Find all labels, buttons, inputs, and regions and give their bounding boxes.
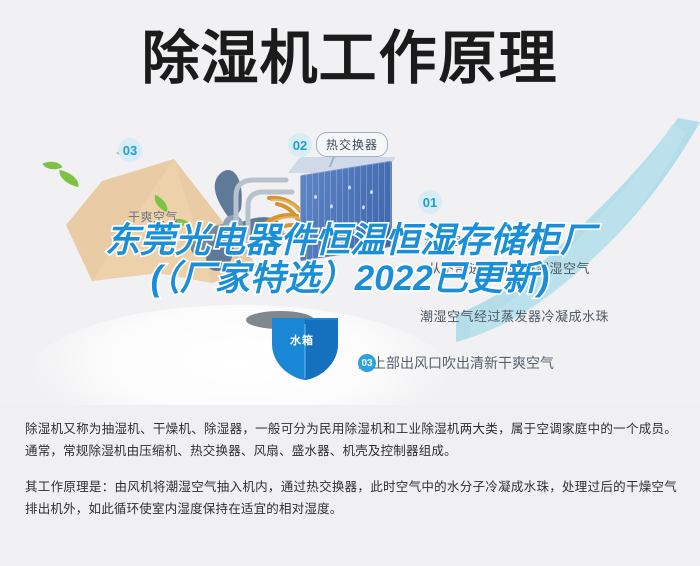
marker-03-dry-air: 03 [118,138,142,162]
marker-03-outlet-text: 03 [361,358,372,369]
marker-03-dry-air-text: 03 [123,143,137,158]
marker-01-moist-air-text: 01 [423,195,437,210]
step-text-intake: 从下部进风口吸进潮湿空气 [428,258,590,277]
body-paragraph-2: 其工作原理是：由风机将潮湿空气抽入机内，通过热交换器，此时空气中的水分子冷凝成水… [25,476,677,520]
step-text-condense: 潮湿空气经过蒸发器冷凝成水珠 [420,306,609,325]
body-copy: 除湿机又称为抽湿机、干燥机、除湿器，一般可分为民用除湿机和工业除湿机两大类，属于… [25,418,677,520]
step-row-outlet: 03 从上部出风口吹出清新干爽空气 [358,353,554,373]
page-title: 除湿机工作原理 [141,30,558,88]
water-tank-icon [238,310,346,382]
marker-02-heat-exchanger: 02 [288,133,312,157]
page-title-part1: 除湿机 [141,26,318,91]
marker-02-heat-exchanger-text: 02 [293,138,307,153]
callout-heat-exchanger-text: 热交换器 [326,138,378,152]
marker-03-outlet: 03 [358,354,376,372]
body-paragraph-1: 除湿机又称为抽湿机、干燥机、除湿器，一般可分为民用除湿机和工业除湿机两大类，属于… [25,418,677,462]
heat-exchanger-unit [300,168,392,254]
dehumidifier-diagram: 水箱 03 干爽空气 02 热交换器 01 潮湿空气 从下部进风口吸进潮湿空气 … [0,110,700,405]
condensation-drops [300,161,392,262]
title-band: 除湿机工作原理 [0,0,700,118]
marker-01-moist-air: 01 [418,190,442,214]
page-title-part2: 工作原理 [319,26,559,91]
step-text-outlet: 从上部出风口吹出清新干爽空气 [358,353,554,373]
label-dry-air: 干爽空气 [128,208,178,225]
label-moist-air: 潮湿空气 [424,232,474,249]
callout-heat-exchanger: 热交换器 [316,132,388,157]
page-root: 除湿机工作原理 [0,0,700,566]
